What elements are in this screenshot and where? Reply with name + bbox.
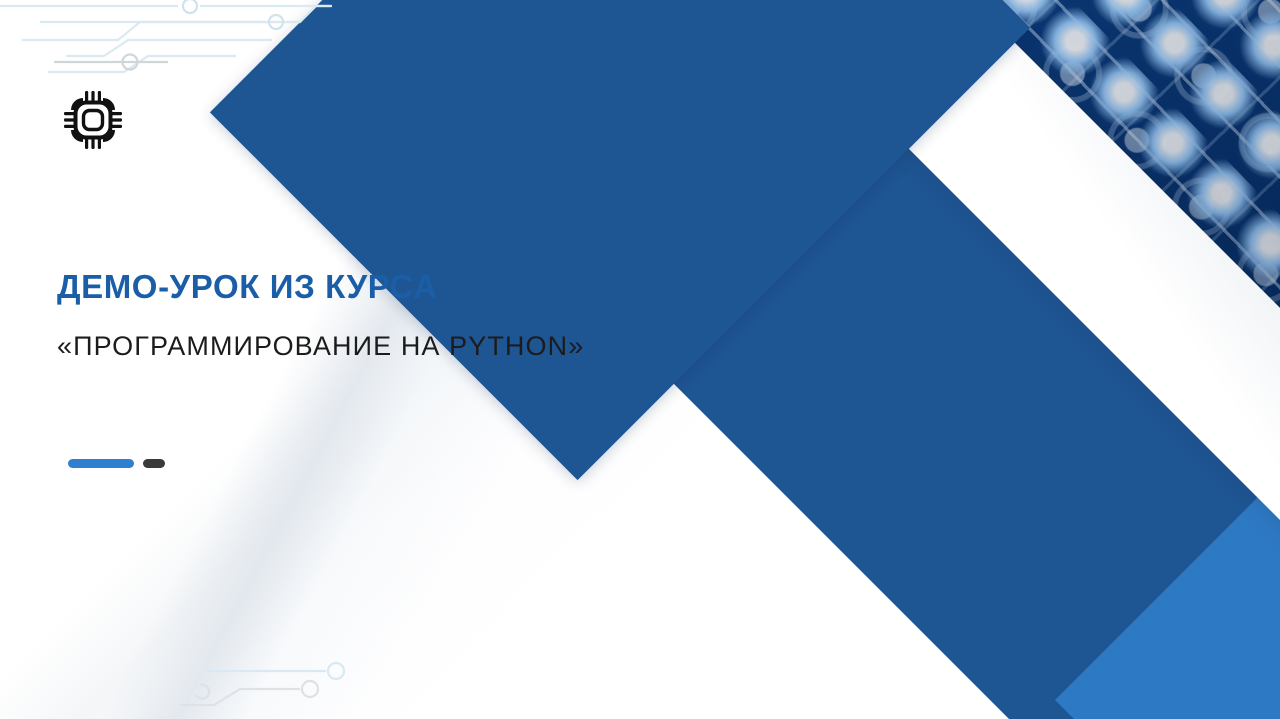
- microchip-icon: [57, 84, 129, 156]
- page-subtitle: «ПРОГРАММИРОВАНИЕ НА PYTHON»: [57, 331, 584, 362]
- page-title: ДЕМО-УРОК ИЗ КУРСА: [57, 268, 438, 306]
- accent-bars: [68, 459, 165, 468]
- dark-accent-bar: [143, 459, 165, 468]
- slide: ДЕМО-УРОК ИЗ КУРСА «ПРОГРАММИРОВАНИЕ НА …: [0, 0, 1280, 719]
- circuit-decoration-bottom-left: [176, 633, 436, 719]
- blue-accent-bar: [68, 459, 134, 468]
- circuit-decoration-top-left: [0, 0, 340, 95]
